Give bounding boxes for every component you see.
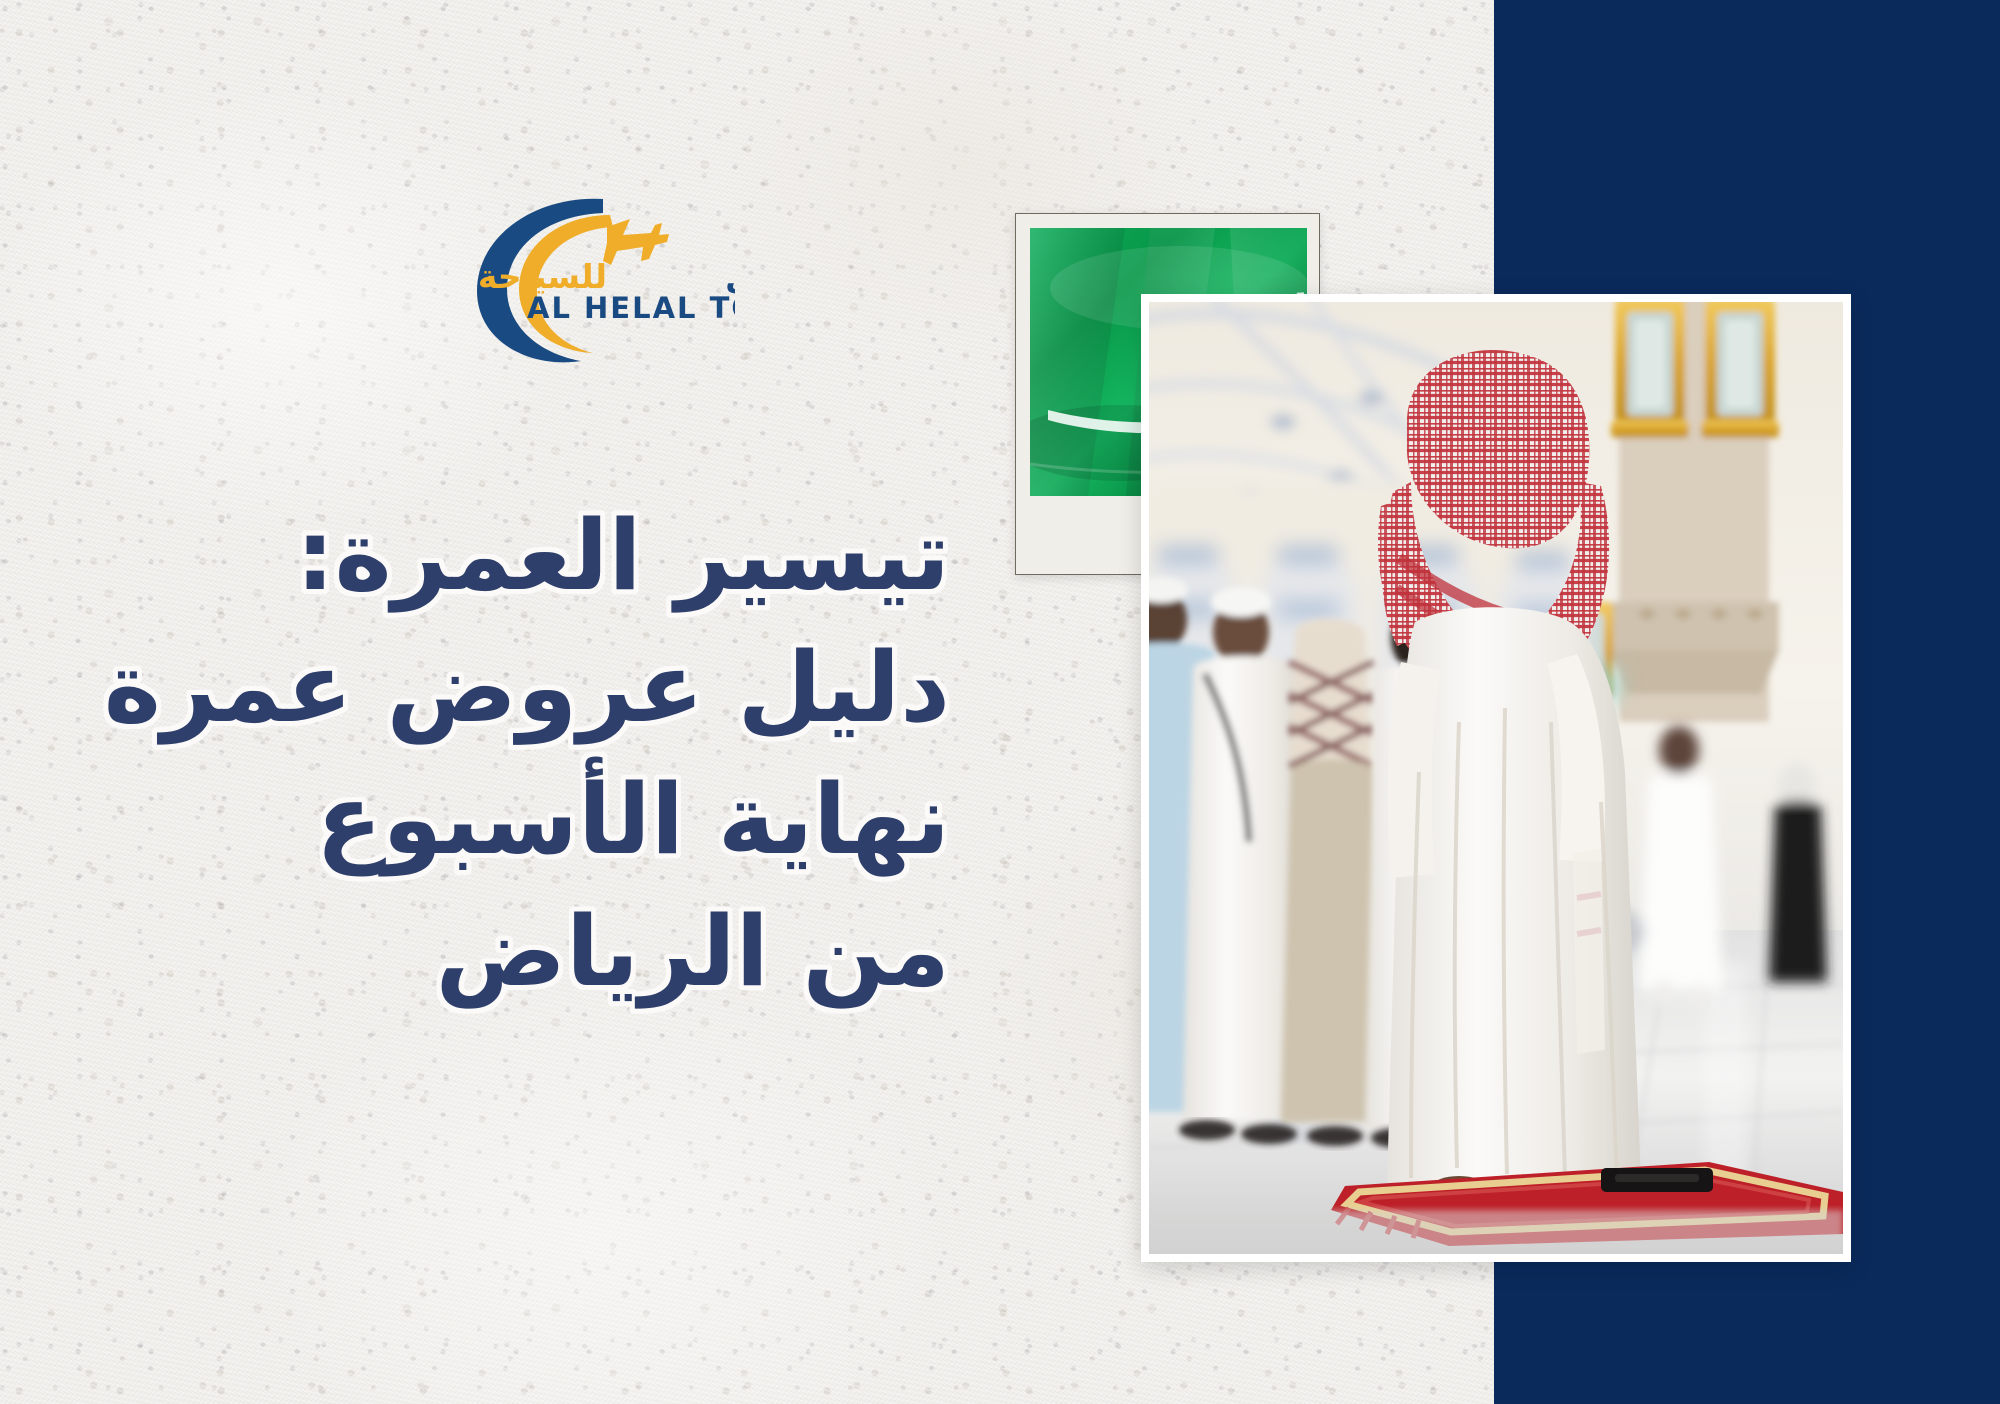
poster-canvas: للسياحة الهلال AL HELAL TOURS تيسير العم… — [0, 0, 2000, 1404]
logo-latin-name: AL HELAL TOURS — [527, 291, 735, 325]
headline-line-4: من الرياض — [150, 886, 950, 1018]
mosque-worshippers-photo — [1149, 302, 1843, 1254]
headline-line-2: دليل عروض عمرة — [150, 622, 950, 754]
airplane-icon — [603, 219, 669, 265]
headline-line-3: نهاية الأسبوع — [150, 754, 950, 886]
headline-line-1: تيسير العمرة: — [150, 490, 950, 622]
mosque-photo-frame — [1141, 294, 1851, 1262]
brand-logo[interactable]: للسياحة الهلال AL HELAL TOURS — [455, 185, 735, 370]
lantern-icon — [1611, 302, 1689, 438]
poster-headline: تيسير العمرة: دليل عروض عمرة نهاية الأسب… — [150, 490, 950, 1018]
